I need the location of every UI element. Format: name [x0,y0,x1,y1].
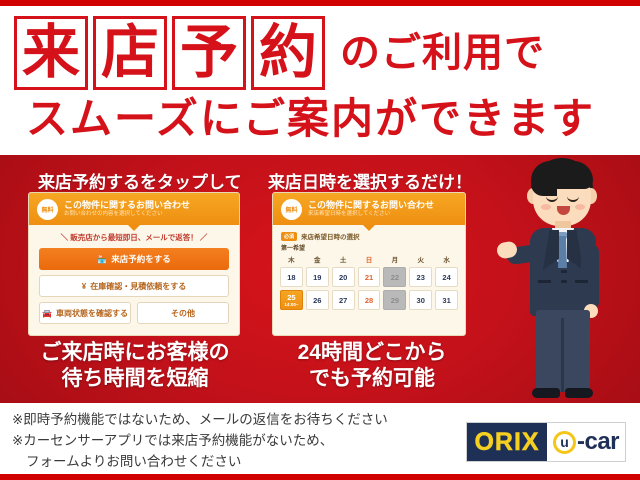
right-caption-line-1: 24時間どこから [262,340,482,366]
mock-header-sub-right: 来店希望日時を選択してください [308,211,434,218]
dow-cell: 土 [332,254,355,264]
shoe-right [565,388,593,398]
promo-banner: 来 店 予 約 のご利用で スムーズにご案内ができます 来店予約するをタップして… [0,0,640,480]
headline-boxed-char-2: 店 [93,16,167,90]
logo-ucar-block: u -car [547,423,625,461]
calendar-week-row-1: 18 19 20 21 22 23 24 [280,267,458,287]
necktie [558,236,567,268]
mock-header-texts-left: この物件に関するお問い合わせ お問い合わせの内容を選択してください [64,200,190,218]
stock-quote-button[interactable]: ¥ 在庫確認・見積依頼をする [39,275,229,297]
mock-header-right: 無料 この物件に関するお問い合わせ 来店希望日時を選択してください [273,193,465,225]
calendar-grid: 木 金 土 日 月 火 水 18 19 20 21 22 23 24 25 1 [273,254,465,310]
headline-row-2: スムーズにご案内ができます [26,98,595,140]
dow-cell: 水 [435,254,458,264]
calendar-day-number: 29 [391,296,399,305]
calendar-day-cell[interactable]: 26 [306,290,329,310]
right-column-title: 来店日時を選択するだけ！ [268,168,472,193]
mock-header-texts-right: この物件に関するお問い合わせ 来店希望日時を選択してください [308,200,434,218]
calendar-day-cell[interactable]: 18 [280,267,303,287]
calendar-day-cell[interactable]: 19 [306,267,329,287]
free-badge-right: 無料 [281,199,302,220]
headline-section: 来 店 予 約 のご利用で スムーズにご案内ができます [0,6,640,155]
reserve-visit-button-label: 来店予約をする [111,253,171,265]
mock-header-left: 無料 この物件に関するお問い合わせ お問い合わせの内容を選択してください [29,193,239,225]
headline-boxed-char-4: 約 [251,16,325,90]
calendar-day-number: 18 [287,273,295,282]
calendar-day-number: 19 [313,273,321,282]
footer-note-2: ※カーセンサーアプリでは来店予約機能がないため、 [12,431,452,452]
orix-ucar-logo: ORIX u -car [466,422,626,462]
calendar-day-number: 30 [417,296,425,305]
calendar-day-cell[interactable]: 21 [358,267,381,287]
calendar-day-number: 28 [365,296,373,305]
store-icon: 🏪 [97,255,107,264]
dow-cell: 日 [358,254,381,264]
calendar-section-label: 来店希望日時の選択 [301,231,360,241]
calendar-day-number: 26 [313,296,321,305]
calendar-day-cell-selected[interactable]: 25 14:00~ [280,290,303,310]
logo-orix-block: ORIX [467,423,547,461]
calendar-day-number: 22 [391,273,399,282]
logo-orix-text: ORIX [474,428,539,457]
cheek-left [541,204,551,210]
footer-notes: ※即時予約機能ではないため、メールの返信をお待ちください ※カーセンサーアプリで… [12,410,452,473]
calendar-day-cell[interactable]: 27 [332,290,355,310]
left-caption-line-2: 待ち時間を短縮 [10,366,260,392]
headline-boxed-char-3: 予 [172,16,246,90]
dow-cell: 月 [383,254,406,264]
cheek-right [575,204,585,210]
headline-boxed-char-1: 来 [14,16,88,90]
calendar-day-number: 23 [417,273,425,282]
calendar-day-number: 20 [339,273,347,282]
preference-label: 第一希望 [273,243,465,254]
bottom-accent-bar [0,474,640,480]
calendar-day-cell[interactable]: 23 [409,267,432,287]
trouser-split [561,318,564,392]
left-column-title: 来店予約するをタップして [38,168,242,193]
calendar-mock: 無料 この物件に関するお問い合わせ 来店希望日時を選択してください 必須 来店希… [272,192,466,336]
yen-icon: ¥ [82,282,86,291]
mock-header-title-left: この物件に関するお問い合わせ [64,200,190,210]
footer-note-1: ※即時予約機能ではないため、メールの返信をお待ちください [12,410,452,431]
calendar-day-number: 21 [365,273,373,282]
calendar-day-time: 14:00~ [284,303,298,308]
mock-header-title-right: この物件に関するお問い合わせ [308,200,434,210]
dow-cell: 火 [409,254,432,264]
mock-header-sub-left: お問い合わせの内容を選択してください [64,211,190,218]
calendar-day-cell-disabled: 22 [383,267,406,287]
right-caption-line-2: でも予約可能 [262,366,482,392]
right-caption: 24時間どこから でも予約可能 [262,340,482,391]
car-icon: 🚘 [42,309,52,318]
logo-u-circle-icon: u [553,431,576,454]
salesman-illustration [505,158,625,403]
calendar-day-cell[interactable]: 31 [435,290,458,310]
calendar-week-row-2: 25 14:00~ 26 27 28 29 30 31 [280,290,458,310]
vehicle-condition-button[interactable]: 🚘 車両状態を確認する [39,302,131,324]
vehicle-condition-button-label: 車両状態を確認する [56,308,128,319]
calendar-day-number: 24 [442,273,450,282]
required-badge: 必須 [281,232,297,241]
calendar-day-number: 31 [442,296,450,305]
calendar-day-number: 25 [287,293,295,302]
dow-cell: 金 [306,254,329,264]
calendar-day-cell[interactable]: 28 [358,290,381,310]
left-caption: ご来店時にお客様の 待ち時間を短縮 [10,340,260,391]
calendar-day-cell-disabled: 29 [383,290,406,310]
reserve-visit-button[interactable]: 🏪 来店予約をする [39,248,229,270]
calendar-day-cell[interactable]: 20 [332,267,355,287]
headline-row-1: 来 店 予 約 のご利用で [14,16,545,90]
headline-tail-text: のご利用で [340,33,545,73]
calendar-day-cell[interactable]: 30 [409,290,432,310]
inquiry-form-mock: 無料 この物件に関するお問い合わせ お問い合わせの内容を選択してください ＼ 販… [28,192,240,336]
jacket-pocket-right [575,280,588,283]
shoe-left [532,388,560,398]
left-caption-line-1: ご来店時にお客様の [10,340,260,366]
arm-right [581,244,599,310]
secondary-button-row: 🚘 車両状態を確認する その他 [39,302,229,324]
jacket-button-2 [561,280,567,283]
other-button[interactable]: その他 [137,302,229,324]
free-badge-left: 無料 [37,199,58,220]
other-button-label: その他 [171,308,195,319]
jacket-pocket-left [538,280,551,283]
logo-car-text: -car [577,428,619,456]
jacket-button-1 [561,270,567,273]
footer-note-3: フォームよりお問い合わせください [12,452,452,473]
calendar-day-number: 27 [339,296,347,305]
dow-cell: 木 [280,254,303,264]
calendar-dow-row: 木 金 土 日 月 火 水 [280,254,458,264]
calendar-day-cell[interactable]: 24 [435,267,458,287]
stock-quote-button-label: 在庫確認・見積依頼をする [90,281,186,292]
